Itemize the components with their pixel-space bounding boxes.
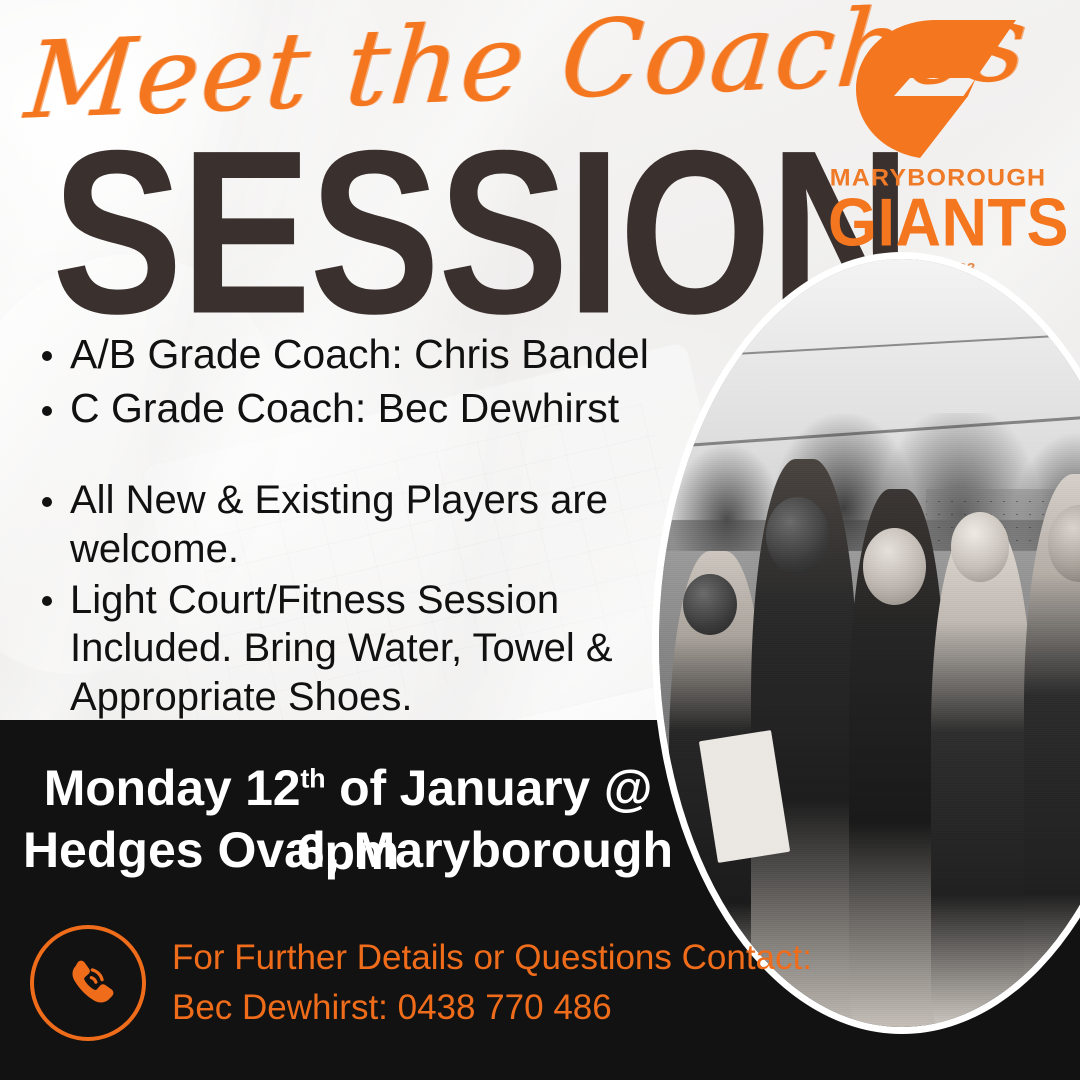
contact-line-1: For Further Details or Questions Contact…	[172, 933, 812, 983]
list-item: All New & Existing Players are welcome.	[30, 476, 630, 574]
list-item: C Grade Coach: Bec Dewhirst	[30, 384, 670, 432]
list-item: A/B Grade Coach: Chris Bandel	[30, 330, 670, 378]
club-logo: MARYBOROUGH GIANTS EST. 2023	[828, 18, 1048, 277]
event-location: Hedges Oval, Maryborough	[16, 818, 680, 882]
team-photo-image	[659, 259, 1080, 1027]
flyer-canvas: Meet the Coaches SESSION MARYBOROUGH GIA…	[0, 0, 1080, 1080]
team-photo	[652, 252, 1080, 1034]
phone-icon-circle	[30, 925, 146, 1041]
contact-block[interactable]: For Further Details or Questions Contact…	[30, 925, 812, 1041]
details-list: All New & Existing Players are welcome. …	[30, 476, 630, 724]
coaches-list: A/B Grade Coach: Chris Bandel C Grade Co…	[30, 330, 670, 439]
contact-line-2: Bec Dewhirst: 0438 770 486	[172, 983, 812, 1033]
event-date-suffix: th	[300, 763, 325, 793]
photo-grain	[659, 259, 1080, 1027]
list-item: Light Court/Fitness Session Included. Br…	[30, 576, 630, 722]
phone-icon	[57, 952, 119, 1014]
contact-details: For Further Details or Questions Contact…	[172, 933, 812, 1032]
logo-name-text: GIANTS	[828, 191, 1048, 256]
giants-g-mark-icon	[848, 18, 1028, 160]
event-date-day: Monday 12	[44, 760, 301, 816]
